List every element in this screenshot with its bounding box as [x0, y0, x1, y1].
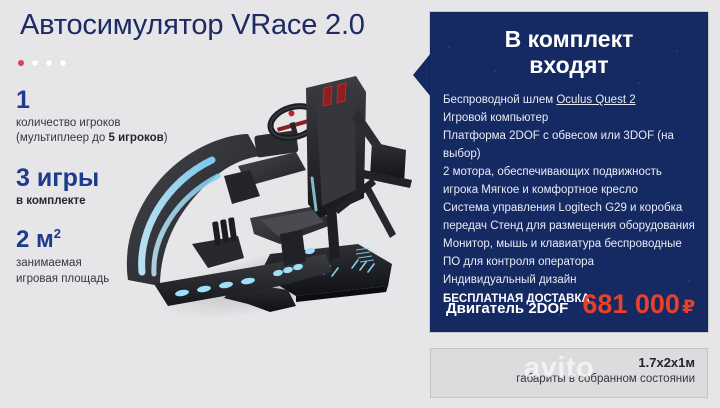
panel-pointer-arrow [413, 53, 431, 97]
list-item: Монитор, мышь и клавиатура беспроводные [443, 235, 696, 253]
price-amount: 681 000 [582, 289, 680, 319]
panel-title: В комплект входят [444, 26, 694, 78]
panel-title-line2: входят [529, 52, 608, 78]
list-item: Беспроводной шлем Oculus Quest 2 [443, 91, 696, 109]
carousel-dot-4[interactable] [60, 60, 66, 66]
stat-area-exponent: 2 [54, 226, 61, 241]
stat-games: 3 игры в комплекте [16, 166, 99, 209]
dimensions-box: 1.7x2x1м габариты в собранном состоянии [430, 348, 708, 398]
list-item: Платформа 2DOF с обвесом или 3DOF (на вы… [443, 127, 696, 163]
carousel-dot-1[interactable] [18, 60, 24, 66]
price-value: 681 000₽ [582, 289, 695, 320]
dimensions-caption: габариты в собранном состоянии [516, 373, 695, 385]
oculus-quest-link[interactable]: Oculus Quest 2 [556, 94, 635, 106]
carousel-dots[interactable] [18, 60, 66, 66]
list-item: 2 мотора, обеспечивающих подвижность игр… [443, 163, 696, 199]
stat-area-caption: занимаемая игровая площадь [16, 255, 109, 287]
stat-area-line2: игровая площадь [16, 273, 109, 285]
stat-area-value: 2 м2 [16, 227, 109, 252]
stat-area-number: 2 м [16, 226, 54, 253]
product-image-racing-simulator[interactable] [120, 58, 420, 318]
list-item: Система управления Logitech G29 и коробк… [443, 199, 696, 235]
stat-area-line1: занимаемая [16, 257, 82, 269]
product-listing-card: Автосимулятор VRace 2.0 1 количество игр… [0, 0, 720, 408]
stat-players-line2-pre: (мультиплеер до [16, 132, 108, 144]
list-item-text: Беспроводной шлем [443, 94, 556, 106]
price-row: Двигатель 2DOF 681 000₽ [446, 289, 696, 320]
list-item: Индивидуальный дизайн [443, 271, 696, 289]
carousel-dot-3[interactable] [46, 60, 52, 66]
page-title: Автосимулятор VRace 2.0 [20, 9, 365, 42]
stat-games-caption: в комплекте [16, 194, 99, 209]
list-item: Игровой компьютер [443, 109, 696, 127]
stat-players-line1: количество игроков [16, 117, 121, 129]
dimensions-value: 1.7x2x1м [638, 355, 695, 370]
included-items-list: Беспроводной шлем Oculus Quest 2 Игровой… [443, 91, 696, 308]
list-item: ПО для контроля оператора [443, 253, 696, 271]
stat-area: 2 м2 занимаемая игровая площадь [16, 227, 109, 287]
carousel-dot-2[interactable] [32, 60, 38, 66]
included-package-panel: В комплект входят Беспроводной шлем Ocul… [430, 12, 708, 332]
price-label: Двигатель 2DOF [446, 300, 568, 317]
stat-games-value: 3 игры [16, 166, 99, 191]
panel-title-line1: В комплект [505, 26, 634, 52]
currency-symbol: ₽ [682, 297, 695, 318]
